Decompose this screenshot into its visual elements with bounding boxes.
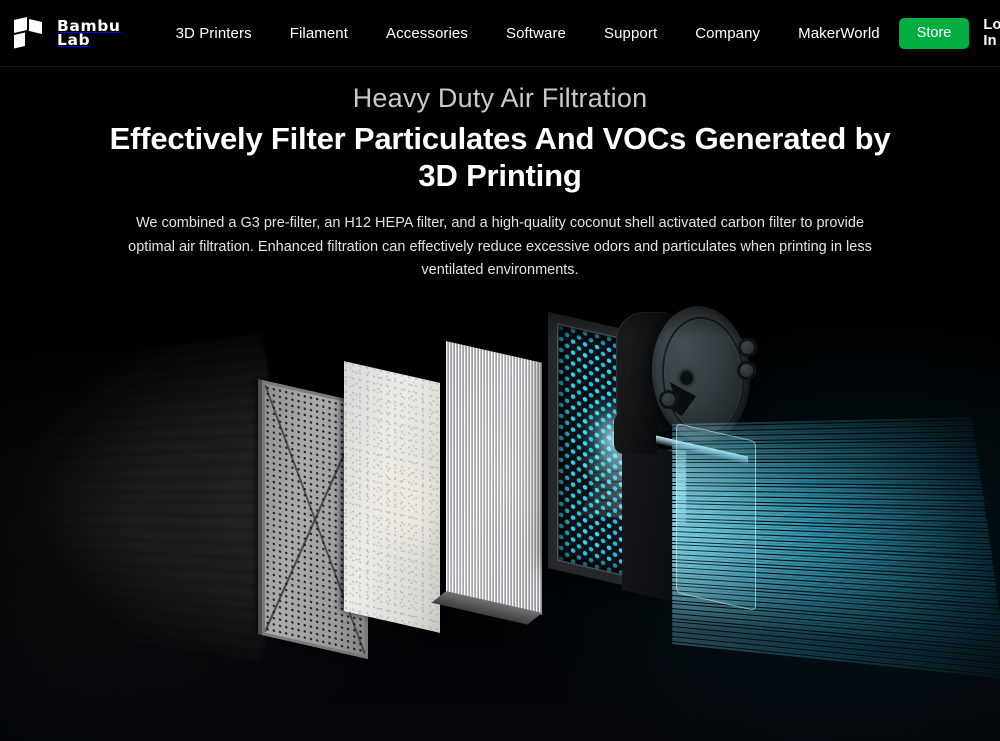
particulate-smoke-stream [0, 346, 300, 646]
hero-blurb: We combined a G3 pre-filter, an H12 HEPA… [120, 212, 880, 282]
logo-line-2: Lab [57, 33, 121, 47]
pleat-ribs [446, 341, 542, 615]
hero-headline: Effectively Filter Particulates And VOCs… [105, 121, 895, 194]
pleated-filter-icon [446, 341, 542, 615]
nav-item-company[interactable]: Company [676, 25, 779, 42]
bambu-lab-wordmark: Bambu Lab [57, 19, 121, 48]
bambu-lab-logo-link[interactable]: Bambu Lab [12, 17, 121, 49]
pad-fiber-texture [344, 361, 440, 633]
nav-item-support[interactable]: Support [585, 25, 676, 42]
nav-item-software[interactable]: Software [487, 25, 585, 42]
nav-item-accessories[interactable]: Accessories [367, 25, 487, 42]
blower-mount-tab [737, 361, 756, 380]
hero-eyebrow: Heavy Duty Air Filtration [0, 83, 1000, 114]
nav-actions: Store Log In [899, 17, 1000, 49]
blower-mount-tab [659, 390, 678, 409]
blower-outlet [614, 414, 658, 454]
bambu-lab-logo-icon [12, 17, 50, 49]
airflow-outlet-pane [676, 423, 756, 611]
nav-item-3d-printers[interactable]: 3D Printers [157, 25, 271, 42]
blower-duct [622, 440, 676, 602]
store-button[interactable]: Store [899, 18, 970, 49]
hero-text-block: Heavy Duty Air Filtration Effectively Fi… [0, 67, 1000, 283]
nav-item-filament[interactable]: Filament [271, 25, 367, 42]
fibrous-pad-icon [344, 361, 440, 633]
login-link[interactable]: Log In [983, 17, 1000, 49]
air-filtration-exploded-view-illustration [0, 272, 1000, 741]
primary-nav-links: 3D Printers Filament Accessories Softwar… [157, 25, 899, 42]
blower-mount-tab [738, 338, 757, 357]
blower-hub [680, 370, 693, 385]
nav-item-makerworld[interactable]: MakerWorld [779, 25, 899, 42]
top-navigation-bar: Bambu Lab 3D Printers Filament Accessori… [0, 0, 1000, 67]
